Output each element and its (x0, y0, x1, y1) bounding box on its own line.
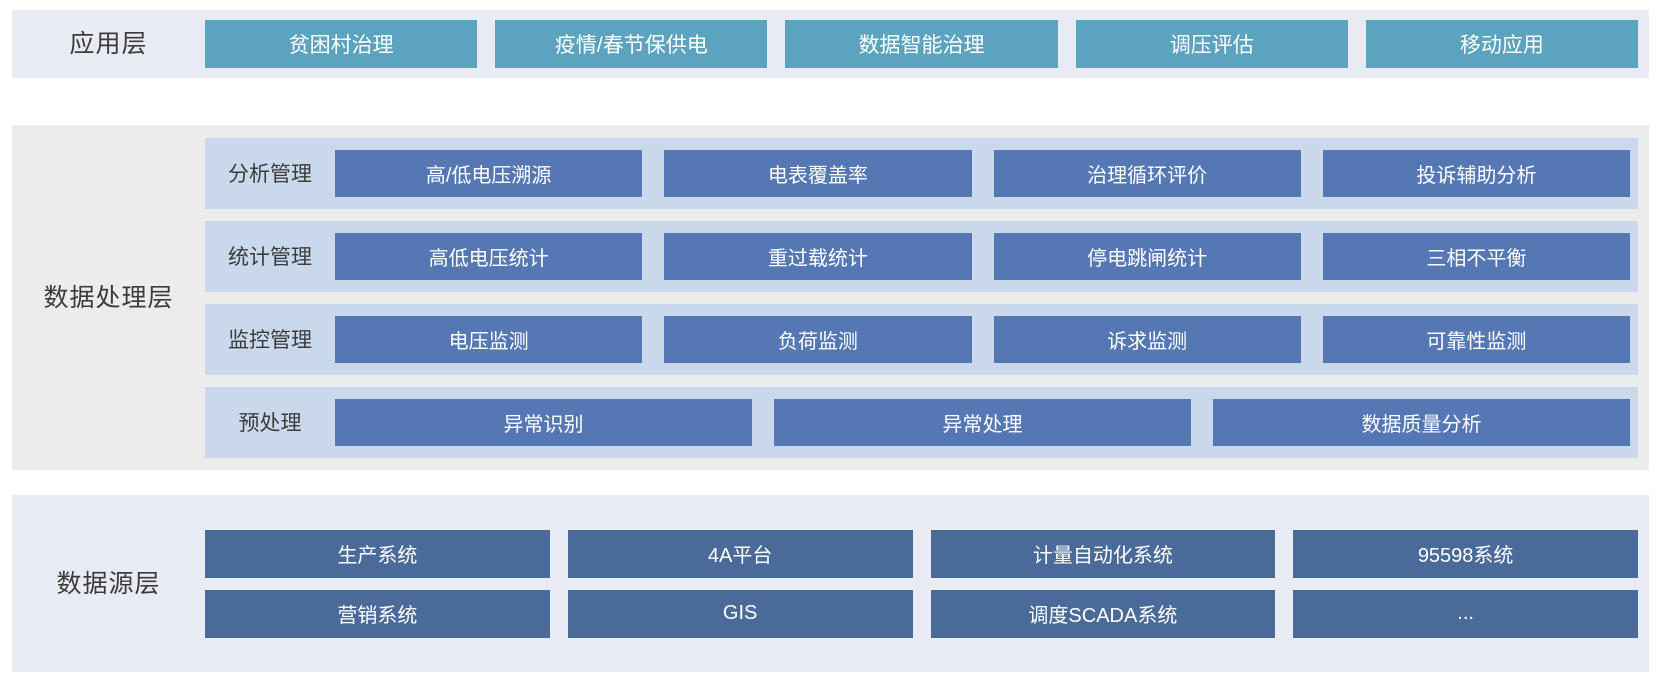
application-box-voltage-regulation-assessment[interactable]: 调压评估 (1076, 20, 1348, 68)
data-source-box-dispatch-scada-system[interactable]: 调度SCADA系统 (931, 590, 1276, 638)
processing-box-meter-coverage-rate[interactable]: 电表覆盖率 (664, 150, 971, 197)
data-source-layer-rows: 生产系统 4A平台 计量自动化系统 95598系统 营销系统 GIS 调度SCA… (205, 513, 1649, 655)
application-box-mobile-application[interactable]: 移动应用 (1366, 20, 1638, 68)
application-box-data-intelligent-governance[interactable]: 数据智能治理 (785, 20, 1057, 68)
processing-row-statistics-management: 统计管理 高低电压统计 重过载统计 停电跳闸统计 三相不平衡 (205, 221, 1638, 292)
processing-box-high-low-voltage-statistics[interactable]: 高低电压统计 (335, 233, 642, 280)
application-layer-title: 应用层 (12, 29, 205, 59)
application-layer-boxes: 贫困村治理 疫情/春节保供电 数据智能治理 调压评估 移动应用 (205, 20, 1649, 68)
data-source-row-2: 营销系统 GIS 调度SCADA系统 ... (205, 590, 1638, 638)
processing-row-boxes-statistics-management: 高低电压统计 重过载统计 停电跳闸统计 三相不平衡 (335, 233, 1638, 280)
processing-box-anomaly-handling[interactable]: 异常处理 (774, 399, 1191, 446)
data-processing-layer-section: 数据处理层 分析管理 高/低电压溯源 电表覆盖率 治理循环评价 投诉辅助分析 统… (12, 125, 1649, 470)
architecture-diagram: 应用层 贫困村治理 疫情/春节保供电 数据智能治理 调压评估 移动应用 数据处理… (0, 0, 1661, 681)
data-processing-layer-title: 数据处理层 (12, 283, 205, 313)
data-processing-layer-rows: 分析管理 高/低电压溯源 电表覆盖率 治理循环评价 投诉辅助分析 统计管理 高低… (205, 126, 1649, 470)
data-source-layer-section: 数据源层 生产系统 4A平台 计量自动化系统 95598系统 营销系统 GIS … (12, 495, 1649, 672)
processing-box-anomaly-identification[interactable]: 异常识别 (335, 399, 752, 446)
processing-row-preprocessing: 预处理 异常识别 异常处理 数据质量分析 (205, 387, 1638, 458)
data-source-box-marketing-system[interactable]: 营销系统 (205, 590, 550, 638)
processing-row-boxes-analysis-management: 高/低电压溯源 电表覆盖率 治理循环评价 投诉辅助分析 (335, 150, 1638, 197)
processing-row-boxes-preprocessing: 异常识别 异常处理 数据质量分析 (335, 399, 1638, 446)
data-source-box-production-system[interactable]: 生产系统 (205, 530, 550, 578)
processing-box-reliability-monitoring[interactable]: 可靠性监测 (1323, 316, 1630, 363)
data-source-box-4a-platform[interactable]: 4A平台 (568, 530, 913, 578)
processing-row-monitoring-management: 监控管理 电压监测 负荷监测 诉求监测 可靠性监测 (205, 304, 1638, 375)
processing-box-three-phase-imbalance[interactable]: 三相不平衡 (1323, 233, 1630, 280)
data-source-layer-title: 数据源层 (12, 569, 205, 599)
application-box-epidemic-spring-festival-power-supply[interactable]: 疫情/春节保供电 (495, 20, 767, 68)
data-source-box-more[interactable]: ... (1293, 590, 1638, 638)
data-source-box-metering-automation-system[interactable]: 计量自动化系统 (931, 530, 1276, 578)
application-box-poverty-village-governance[interactable]: 贫困村治理 (205, 20, 477, 68)
processing-box-data-quality-analysis[interactable]: 数据质量分析 (1213, 399, 1630, 446)
processing-box-load-monitoring[interactable]: 负荷监测 (664, 316, 971, 363)
processing-box-governance-cycle-evaluation[interactable]: 治理循环评价 (994, 150, 1301, 197)
processing-row-label-statistics-management: 统计管理 (205, 241, 335, 271)
application-layer-section: 应用层 贫困村治理 疫情/春节保供电 数据智能治理 调压评估 移动应用 (12, 10, 1649, 78)
data-source-row-1: 生产系统 4A平台 计量自动化系统 95598系统 (205, 530, 1638, 578)
processing-row-label-monitoring-management: 监控管理 (205, 324, 335, 354)
processing-box-voltage-monitoring[interactable]: 电压监测 (335, 316, 642, 363)
processing-box-heavy-overload-statistics[interactable]: 重过载统计 (664, 233, 971, 280)
processing-row-label-analysis-management: 分析管理 (205, 158, 335, 188)
processing-row-label-preprocessing: 预处理 (205, 407, 335, 437)
processing-row-analysis-management: 分析管理 高/低电压溯源 电表覆盖率 治理循环评价 投诉辅助分析 (205, 138, 1638, 209)
data-source-box-95598-system[interactable]: 95598系统 (1293, 530, 1638, 578)
data-source-box-gis[interactable]: GIS (568, 590, 913, 638)
processing-row-boxes-monitoring-management: 电压监测 负荷监测 诉求监测 可靠性监测 (335, 316, 1638, 363)
processing-box-complaint-assisted-analysis[interactable]: 投诉辅助分析 (1323, 150, 1630, 197)
processing-box-appeal-monitoring[interactable]: 诉求监测 (994, 316, 1301, 363)
processing-box-outage-trip-statistics[interactable]: 停电跳闸统计 (994, 233, 1301, 280)
processing-box-high-low-voltage-tracing[interactable]: 高/低电压溯源 (335, 150, 642, 197)
